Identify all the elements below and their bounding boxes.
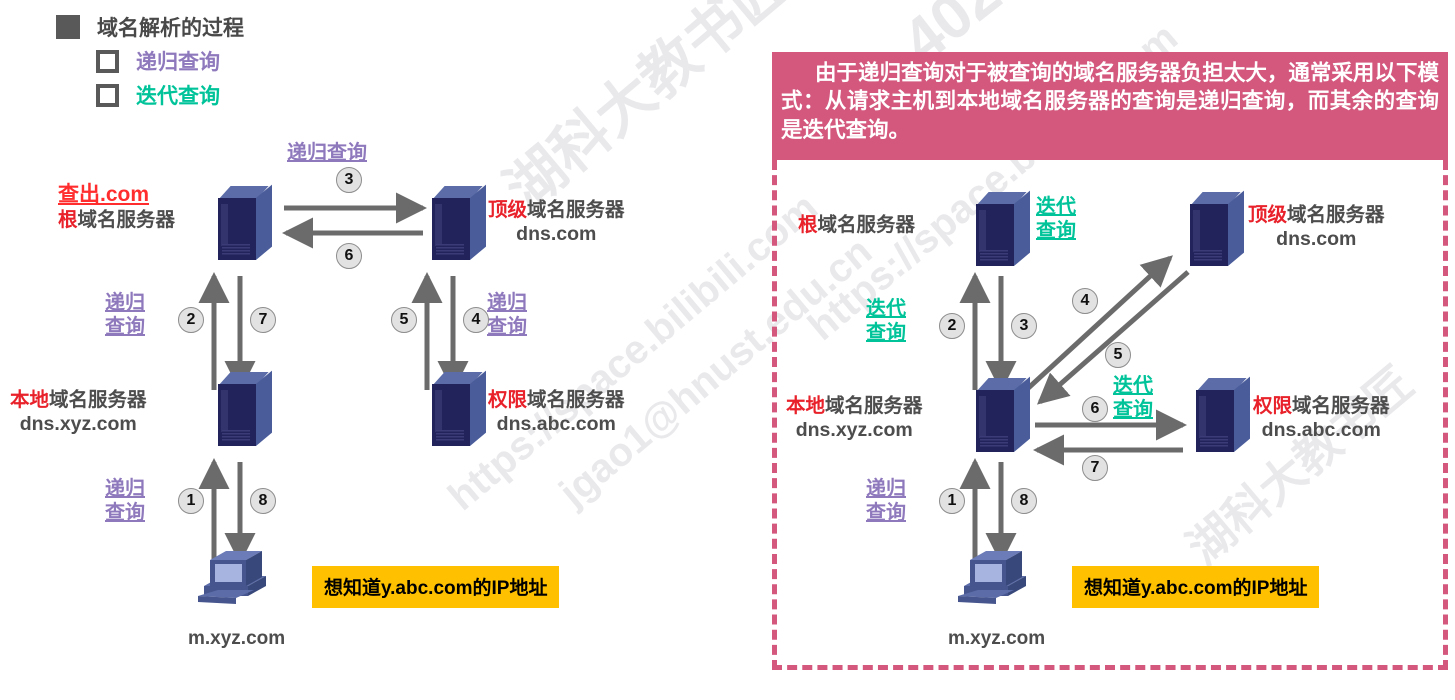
label-auth-name-right: 权限域名服务器 bbox=[1253, 394, 1390, 418]
query-label-root-tld: 递归查询 bbox=[287, 142, 367, 166]
step-badge-7: 7 bbox=[250, 307, 276, 333]
label-root-name-right: 根域名服务器 bbox=[798, 213, 915, 237]
step-badge-3: 3 bbox=[336, 167, 362, 193]
label-tld-name-right: 顶级域名服务器 bbox=[1248, 203, 1385, 227]
query-label-tld-auth: 递归 查询 bbox=[487, 292, 527, 339]
label-local-server-left: 本地域名服务器 dns.xyz.com bbox=[10, 388, 147, 437]
label-root-name: 根域名服务器 bbox=[58, 208, 175, 232]
checkbox-icon[interactable] bbox=[96, 50, 119, 73]
step-badge-1: 1 bbox=[178, 488, 204, 514]
callout-goal-right: 想知道y.abc.com的IP地址 bbox=[1072, 566, 1319, 608]
query-label-local-host-right: 递归 查询 bbox=[866, 478, 906, 525]
query-label-local-auth-right: 迭代 查询 bbox=[1113, 375, 1153, 422]
legend-item-label: 递归查询 bbox=[136, 46, 220, 76]
arrow-local-to-tld-diagonal bbox=[1010, 250, 1200, 405]
step-badge-2: 2 bbox=[178, 307, 204, 333]
computer-icon-host-right bbox=[956, 534, 1034, 610]
label-auth-domain-right: dns.abc.com bbox=[1253, 418, 1390, 442]
step-badge-3-right: 3 bbox=[1011, 313, 1037, 339]
label-local-name: 本地域名服务器 bbox=[10, 388, 147, 412]
filled-square-icon bbox=[56, 15, 80, 39]
arrow-local-to-auth-right bbox=[1035, 418, 1195, 466]
label-auth-server-left: 权限域名服务器 dns.abc.com bbox=[488, 388, 625, 437]
legend-item-label: 迭代查询 bbox=[136, 80, 220, 110]
label-tld-server-right: 顶级域名服务器 dns.com bbox=[1248, 203, 1385, 252]
label-local-name-right: 本地域名服务器 bbox=[786, 394, 923, 418]
query-label-local-host: 递归 查询 bbox=[105, 478, 145, 525]
label-root-server-left: 查出.com 根域名服务器 bbox=[58, 178, 175, 232]
label-host-domain-right: m.xyz.com bbox=[948, 628, 1045, 650]
step-badge-8: 8 bbox=[250, 488, 276, 514]
legend-title: 域名解析的过程 bbox=[97, 12, 244, 42]
legend-item-iterative[interactable]: 迭代查询 bbox=[96, 78, 244, 112]
label-tld-name: 顶级域名服务器 bbox=[488, 198, 625, 222]
label-tld-server-left: 顶级域名服务器 dns.com bbox=[488, 198, 625, 247]
query-label-root-local-right: 迭代 查询 bbox=[866, 298, 906, 345]
label-root-note: 查出.com bbox=[58, 178, 175, 208]
label-local-domain: dns.xyz.com bbox=[10, 412, 147, 436]
label-local-server-right: 本地域名服务器 dns.xyz.com bbox=[786, 394, 923, 443]
step-badge-4: 4 bbox=[463, 307, 489, 333]
label-root-server-right: 根域名服务器 bbox=[798, 213, 915, 237]
query-label-root-top-right: 迭代 查询 bbox=[1036, 196, 1076, 243]
step-badge-6-right: 6 bbox=[1082, 396, 1108, 422]
panel-banner: 由于递归查询对于被查询的域名服务器负担太大，通常采用以下模式：从请求主机到本地域… bbox=[772, 52, 1448, 160]
legend: 域名解析的过程 递归查询 迭代查询 bbox=[56, 10, 244, 112]
panel-banner-text: 由于递归查询对于被查询的域名服务器负担太大，通常采用以下模式：从请求主机到本地域… bbox=[781, 61, 1439, 142]
step-badge-2-right: 2 bbox=[939, 313, 965, 339]
step-badge-8-right: 8 bbox=[1011, 488, 1037, 514]
label-tld-domain-right: dns.com bbox=[1248, 227, 1385, 251]
label-tld-domain: dns.com bbox=[488, 222, 625, 246]
step-badge-7-right: 7 bbox=[1082, 455, 1108, 481]
diagram-canvas: 402 湖科大教书匠 https://space.bilibili.com jg… bbox=[0, 0, 1455, 700]
watermark-brand: 湖科大教书匠 bbox=[484, 0, 805, 226]
legend-title-row: 域名解析的过程 bbox=[56, 10, 244, 44]
query-label-root-local: 递归 查询 bbox=[105, 292, 145, 339]
label-host-domain-left: m.xyz.com bbox=[188, 628, 285, 650]
computer-icon-host bbox=[196, 534, 274, 610]
step-badge-4-right: 4 bbox=[1072, 288, 1098, 314]
checkbox-icon[interactable] bbox=[96, 84, 119, 107]
step-badge-1-right: 1 bbox=[939, 488, 965, 514]
label-auth-domain: dns.abc.com bbox=[488, 412, 625, 436]
arrow-root-to-local-right bbox=[966, 272, 1016, 394]
callout-goal-left: 想知道y.abc.com的IP地址 bbox=[312, 566, 559, 608]
step-badge-5: 5 bbox=[391, 307, 417, 333]
step-badge-6: 6 bbox=[336, 243, 362, 269]
label-auth-server-right: 权限域名服务器 dns.abc.com bbox=[1253, 394, 1390, 443]
label-auth-name: 权限域名服务器 bbox=[488, 388, 625, 412]
step-badge-5-right: 5 bbox=[1105, 342, 1131, 368]
label-local-domain-right: dns.xyz.com bbox=[786, 418, 923, 442]
legend-item-recursive[interactable]: 递归查询 bbox=[96, 44, 244, 78]
